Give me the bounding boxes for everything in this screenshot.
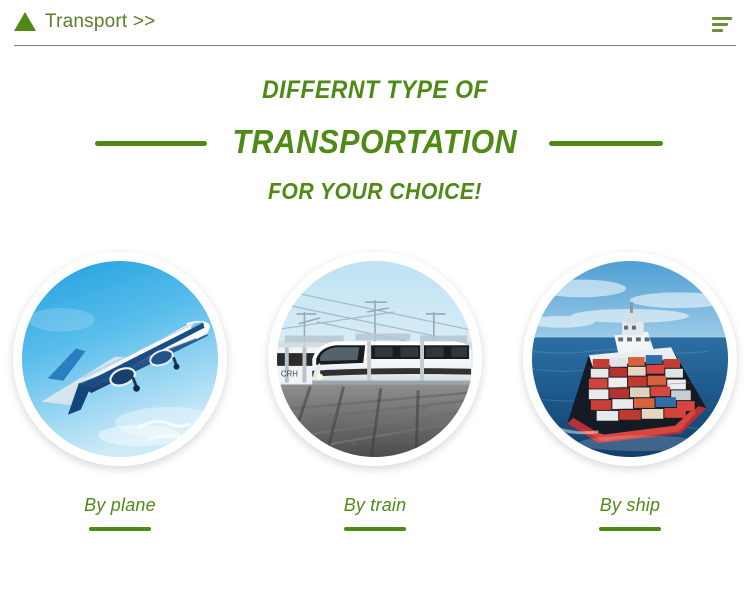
plane-circle-frame[interactable] bbox=[13, 252, 227, 466]
transport-card-train[interactable]: CRH bbox=[266, 252, 484, 531]
ship-circle-frame[interactable] bbox=[523, 252, 737, 466]
card-label-ship: By ship bbox=[600, 496, 660, 514]
title-line-1: DIFFERNT TYPE OF bbox=[30, 78, 720, 103]
card-underline-ship bbox=[599, 527, 661, 531]
brand[interactable]: Transport >> bbox=[14, 12, 155, 31]
card-underline-train bbox=[344, 527, 406, 531]
airplane-photo bbox=[22, 261, 218, 457]
high-speed-train-photo: CRH bbox=[277, 261, 473, 457]
title-line-3: FOR YOUR CHOICE! bbox=[30, 180, 720, 203]
transport-options-list: By plane bbox=[0, 252, 750, 531]
site-header: Transport >> bbox=[0, 0, 750, 47]
card-label-train: By train bbox=[344, 496, 407, 514]
container-ship-photo bbox=[532, 261, 728, 457]
train-circle-frame[interactable]: CRH bbox=[268, 252, 482, 466]
title-decoration-left bbox=[95, 141, 207, 146]
page-title: DIFFERNT TYPE OF TRANSPORTATION FOR YOUR… bbox=[0, 78, 750, 203]
hamburger-line-3 bbox=[712, 29, 723, 32]
hamburger-menu-icon[interactable] bbox=[712, 17, 734, 32]
title-line-2: TRANSPORTATION bbox=[233, 125, 518, 158]
transport-card-ship[interactable]: By ship bbox=[521, 252, 739, 531]
title-middle-row: TRANSPORTATION bbox=[0, 121, 750, 161]
transport-page: Transport >> DIFFERNT TYPE OF TRANSPORTA… bbox=[0, 0, 750, 589]
hamburger-line-2 bbox=[712, 23, 728, 26]
card-underline-plane bbox=[89, 527, 151, 531]
transport-card-plane[interactable]: By plane bbox=[11, 252, 229, 531]
hamburger-line-1 bbox=[712, 17, 732, 20]
header-divider bbox=[14, 45, 736, 46]
card-label-plane: By plane bbox=[84, 496, 156, 514]
brand-label: Transport >> bbox=[45, 12, 155, 31]
svg-text:CRH: CRH bbox=[281, 370, 298, 379]
triangle-up-icon bbox=[14, 12, 36, 31]
title-decoration-right bbox=[549, 141, 663, 146]
